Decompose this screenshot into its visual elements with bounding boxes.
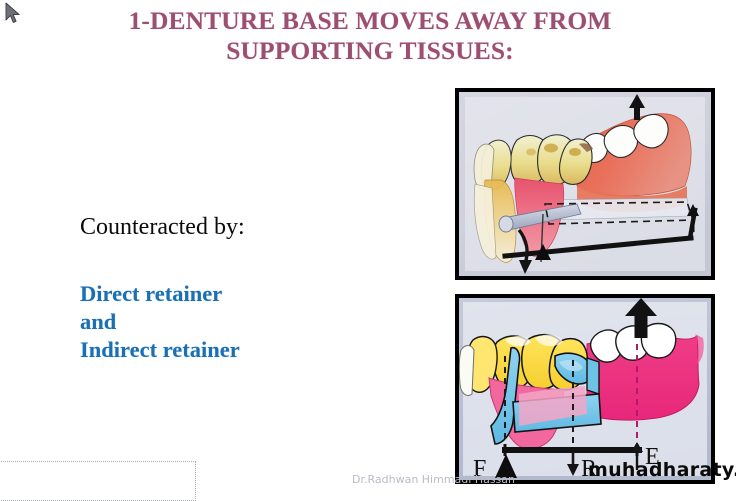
figure-denture-rotation-diagram[interactable] bbox=[455, 88, 715, 280]
retainer-item-conjunction: and bbox=[80, 308, 410, 336]
counteracted-by-label: Counteracted by: bbox=[80, 212, 410, 242]
slide-canvas: 1-DENTURE BASE MOVES AWAY FROM SUPPORTIN… bbox=[0, 0, 736, 489]
figure-bottom-illustration: F R E bbox=[459, 298, 711, 480]
author-credit: Dr.Radhwan Himmadi Hassan bbox=[352, 473, 515, 487]
body-text-block: Counteracted by: Direct retainer and Ind… bbox=[80, 212, 410, 364]
figure-top-illustration bbox=[459, 92, 711, 276]
content-placeholder-box[interactable] bbox=[0, 461, 196, 501]
retainer-item-indirect: Indirect retainer bbox=[80, 336, 410, 364]
retainer-item-direct: Direct retainer bbox=[80, 280, 410, 308]
site-watermark: muhadharaty.com bbox=[588, 459, 736, 481]
slide-title-line-2: SUPPORTING TISSUES: bbox=[96, 36, 644, 66]
slide-title-line-1: 1-DENTURE BASE MOVES AWAY FROM bbox=[96, 6, 644, 36]
mouse-cursor-icon bbox=[4, 2, 22, 26]
slide-title: 1-DENTURE BASE MOVES AWAY FROM SUPPORTIN… bbox=[96, 6, 644, 66]
retainer-list: Direct retainer and Indirect retainer bbox=[80, 280, 410, 364]
figure-lever-system-diagram[interactable]: F R E bbox=[455, 294, 715, 484]
